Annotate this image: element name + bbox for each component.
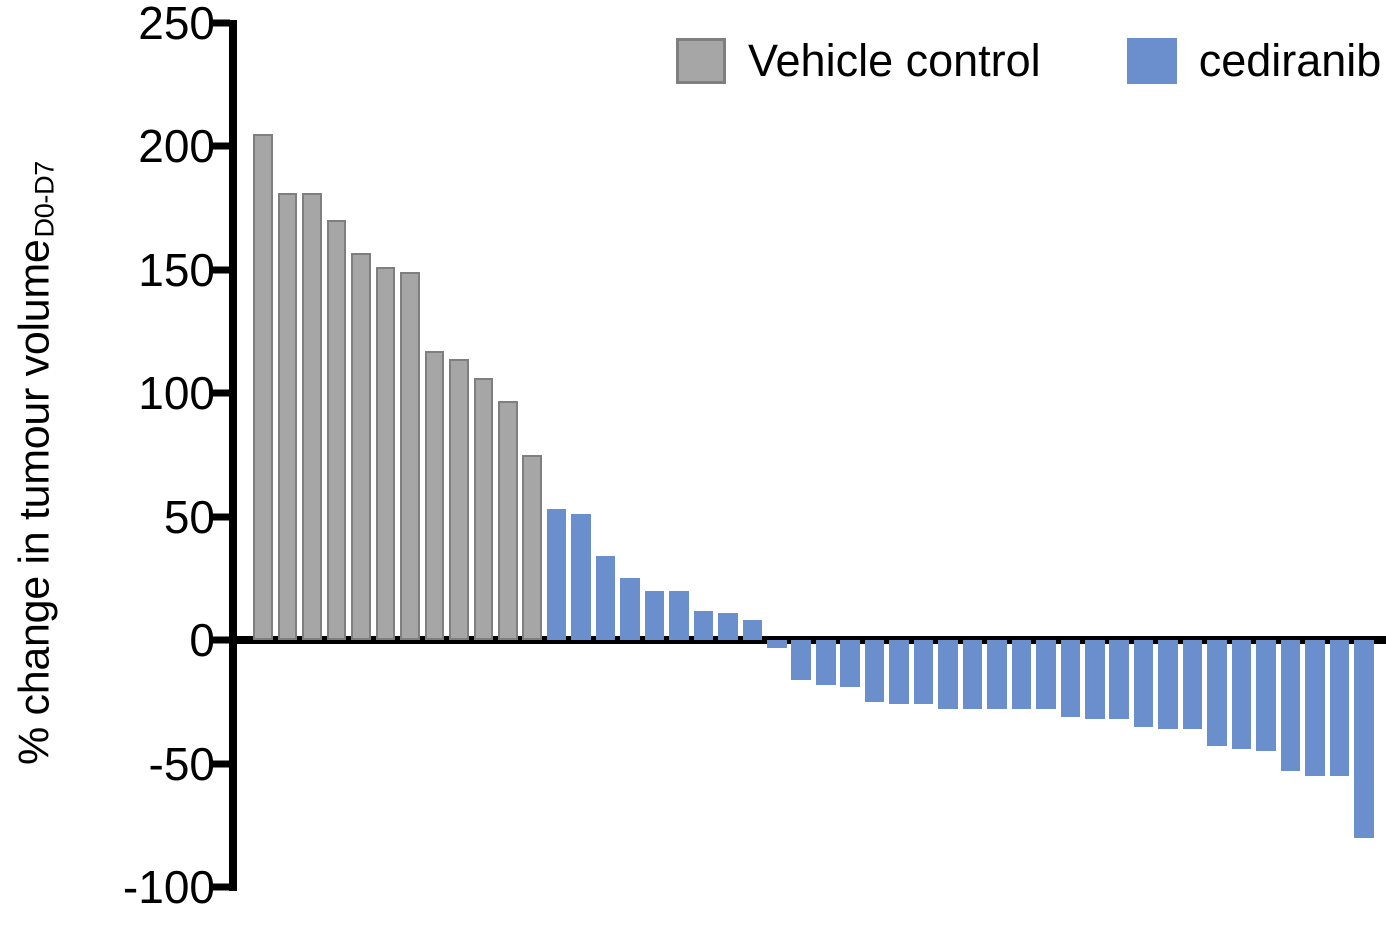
y-axis-tick-mark [212,760,230,767]
y-axis-tick-mark [212,266,230,273]
bar [669,591,689,640]
bar [1207,640,1227,746]
bar [767,640,787,647]
bar [620,578,640,640]
bar [474,378,494,640]
y-axis-tick-label: -100 [55,864,215,910]
y-axis-tick-mark [212,513,230,520]
bar [1085,640,1105,719]
y-axis-tick-mark [212,20,230,27]
bar [327,220,347,640]
bar [1183,640,1203,729]
bar [816,640,836,684]
legend-label-vehicle-control: Vehicle control [748,35,1041,87]
y-axis-tick-mark [212,884,230,891]
legend-label-cediranib: cediranib [1199,35,1382,87]
bar [840,640,860,687]
bar [1354,640,1374,837]
y-axis-tick-label: 250 [55,0,215,46]
bar [278,193,298,640]
bar [376,267,396,640]
bar [718,613,738,640]
bar [694,611,714,641]
bar [449,359,469,640]
bar [1232,640,1252,749]
bar [425,351,445,640]
bar [302,193,322,640]
legend-item-cediranib[interactable]: cediranib [1127,35,1382,87]
y-axis-tick-label: 100 [55,370,215,416]
bar [571,514,591,640]
legend-swatch-cediranib-icon [1127,38,1177,84]
bar [547,509,567,640]
y-axis-tick-label: 0 [55,617,215,663]
y-axis-tick-label: 50 [55,494,215,540]
bar [791,640,811,679]
y-axis-tick-label: 200 [55,123,215,169]
bar [351,253,371,641]
y-axis-tick-label: 150 [55,247,215,293]
bar [522,455,542,640]
y-axis-tick-mark [212,143,230,150]
bar [1256,640,1276,751]
bar [1305,640,1325,776]
bar [1134,640,1154,726]
bar [1158,640,1178,729]
bar [1036,640,1056,709]
y-axis-tick-labels: 250200150100500-50-100 [35,0,215,926]
waterfall-chart-figure: % change in tumour volumeD0-D7 250200150… [0,0,1386,926]
bar [400,272,420,640]
legend-swatch-vehicle-control-icon [676,38,726,84]
bar [596,556,616,640]
y-axis-tick-label: -50 [55,741,215,787]
bar [865,640,885,702]
bar [1330,640,1350,776]
bar [1109,640,1129,719]
bar [1061,640,1081,717]
bar [987,640,1007,709]
plot-area [236,0,1386,926]
bar [963,640,983,709]
bar [645,591,665,640]
bar [1281,640,1301,771]
y-axis-tick-mark [212,637,230,644]
bar [889,640,909,704]
bar [498,401,518,640]
y-axis-tick-mark [212,390,230,397]
bar [938,640,958,709]
bar [1012,640,1032,709]
legend-item-vehicle-control[interactable]: Vehicle control [676,35,1041,87]
legend: Vehicle control cediranib [676,30,1381,92]
bar [914,640,934,704]
bar [253,134,273,640]
bar [743,620,763,640]
